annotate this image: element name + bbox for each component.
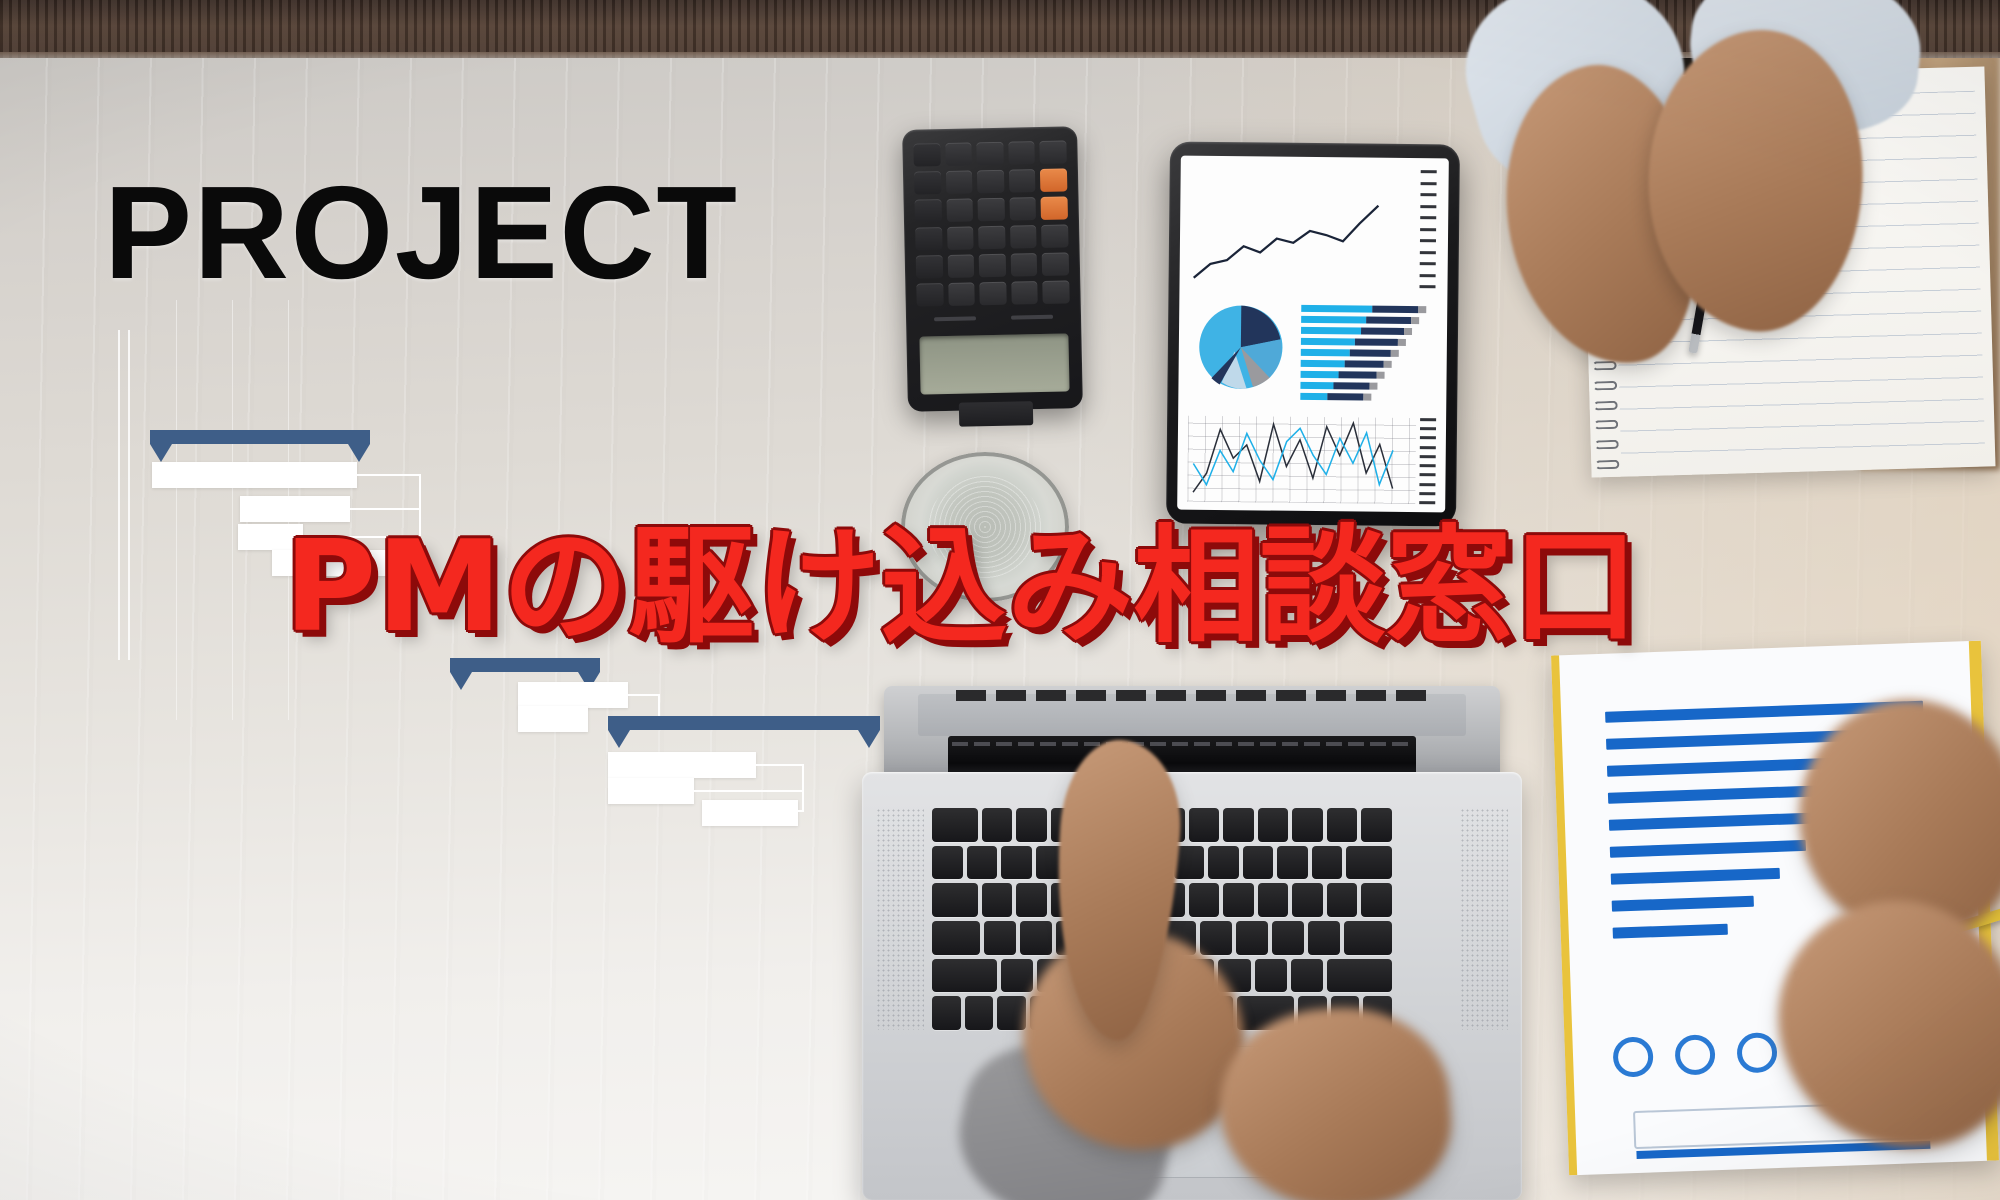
page-title: PROJECT (104, 172, 739, 293)
banner-image: PROJECT PMの駆け込み相談窓口 (0, 0, 2000, 1200)
headline-text: PMの駆け込み相談窓口 (284, 524, 1639, 650)
